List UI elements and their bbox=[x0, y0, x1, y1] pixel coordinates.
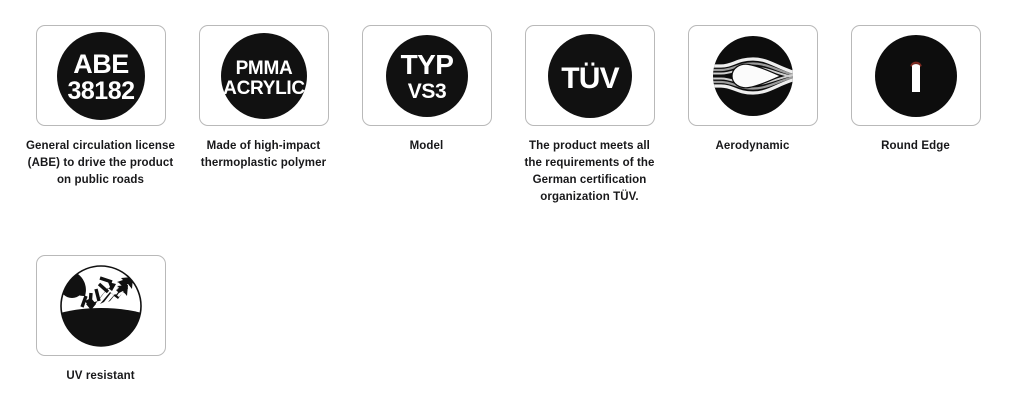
badge-card-abe: ABE 38182 bbox=[36, 25, 166, 126]
feature-caption-pmma: Made of high-impact thermoplastic polyme… bbox=[188, 138, 340, 172]
badge-primary-text: TÜV bbox=[561, 62, 619, 95]
feature-caption-abe: General circulation license (ABE) to dri… bbox=[25, 138, 177, 189]
feature-item-round-edge: Round Edge bbox=[833, 25, 998, 155]
feature-item-tuv: TÜV The product meets all the requiremen… bbox=[507, 25, 672, 206]
badge-card-pmma: PMMA ACRYLIC bbox=[199, 25, 329, 126]
round-edge-profile-icon bbox=[870, 30, 962, 122]
badge-card-round-edge bbox=[851, 25, 981, 126]
badge-primary-text: ABE bbox=[73, 49, 129, 79]
badge-card-model: TYP VS3 bbox=[362, 25, 492, 126]
feature-caption-tuv: The product meets all the requirements o… bbox=[523, 138, 657, 206]
feature-item-pmma: PMMA ACRYLIC Made of high-impact thermop… bbox=[181, 25, 346, 172]
badge-secondary-text: ACRYLIC bbox=[223, 78, 305, 99]
feature-caption-aerodynamic: Aerodynamic bbox=[677, 138, 829, 155]
badge-secondary-text: 38182 bbox=[67, 77, 134, 105]
badge-card-aerodynamic bbox=[688, 25, 818, 126]
badge-primary-text: PMMA bbox=[235, 58, 292, 79]
feature-item-model: TYP VS3 Model bbox=[344, 25, 509, 155]
feature-item-aerodynamic: Aerodynamic bbox=[670, 25, 835, 155]
aerodynamic-airfoil-icon bbox=[707, 30, 799, 122]
feature-caption-uv: UV resistant bbox=[25, 368, 177, 385]
badge-card-tuv: TÜV bbox=[525, 25, 655, 126]
feature-caption-round-edge: Round Edge bbox=[840, 138, 992, 155]
badge-primary-text: TYP bbox=[400, 49, 453, 80]
feature-caption-model: Model bbox=[351, 138, 503, 155]
pmma-acrylic-badge-icon: PMMA ACRYLIC bbox=[218, 30, 310, 122]
badge-card-uv bbox=[36, 255, 166, 356]
feature-item-uv: UV resistant bbox=[18, 255, 183, 385]
uv-resistant-sun-icon bbox=[55, 260, 147, 352]
badge-secondary-text: VS3 bbox=[407, 80, 446, 103]
tuv-certification-badge-icon: TÜV bbox=[544, 30, 636, 122]
feature-item-abe: ABE 38182 General circulation license (A… bbox=[18, 25, 183, 189]
model-typ-vs3-badge-icon: TYP VS3 bbox=[381, 30, 473, 122]
abe-certification-badge-icon: ABE 38182 bbox=[53, 28, 149, 124]
